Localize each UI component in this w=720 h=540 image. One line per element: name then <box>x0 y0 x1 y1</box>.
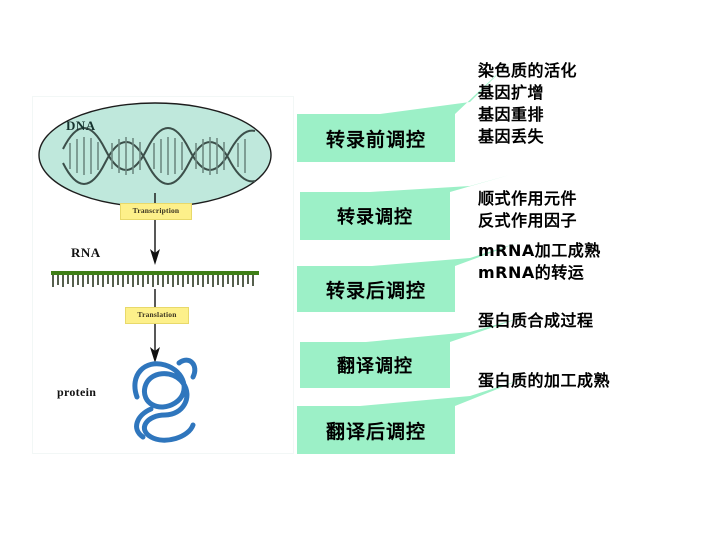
note-line: 反式作用因子 <box>478 210 577 232</box>
note-line: 基因扩增 <box>478 82 577 104</box>
note-line: 蛋白质合成过程 <box>478 310 594 332</box>
note-line: 染色质的活化 <box>478 60 577 82</box>
note-line: mRNA的转运 <box>478 262 601 284</box>
stage-box-translation[interactable]: 翻译调控 <box>300 342 450 388</box>
stage-box-transcription[interactable]: 转录调控 <box>300 192 450 240</box>
note-line: 基因丢失 <box>478 126 577 148</box>
note-line: 顺式作用元件 <box>478 188 577 210</box>
note-transcription: 顺式作用元件 反式作用因子 <box>478 188 577 232</box>
note-pre-transcription: 染色质的活化 基因扩增 基因重排 基因丢失 <box>478 60 577 148</box>
stage-box-post-translation[interactable]: 翻译后调控 <box>297 406 455 454</box>
note-line: 蛋白质的加工成熟 <box>478 370 610 392</box>
stage-box-pre-transcription[interactable]: 转录前调控 <box>297 114 455 162</box>
stage-label: 转录前调控 <box>326 125 426 152</box>
note-translation: 蛋白质合成过程 <box>478 310 594 332</box>
slide-canvas: DNA RNA protein Transcription Translatio… <box>0 0 720 540</box>
note-post-transcription: mRNA加工成熟 mRNA的转运 <box>478 240 601 284</box>
note-line: 基因重排 <box>478 104 577 126</box>
stage-label: 转录后调控 <box>326 276 426 303</box>
stage-label: 转录调控 <box>337 203 413 229</box>
stage-label: 翻译后调控 <box>326 417 426 444</box>
stage-label: 翻译调控 <box>337 352 413 378</box>
note-line: mRNA加工成熟 <box>478 240 601 262</box>
stage-box-post-transcription[interactable]: 转录后调控 <box>297 266 455 312</box>
note-post-translation: 蛋白质的加工成熟 <box>478 370 610 392</box>
